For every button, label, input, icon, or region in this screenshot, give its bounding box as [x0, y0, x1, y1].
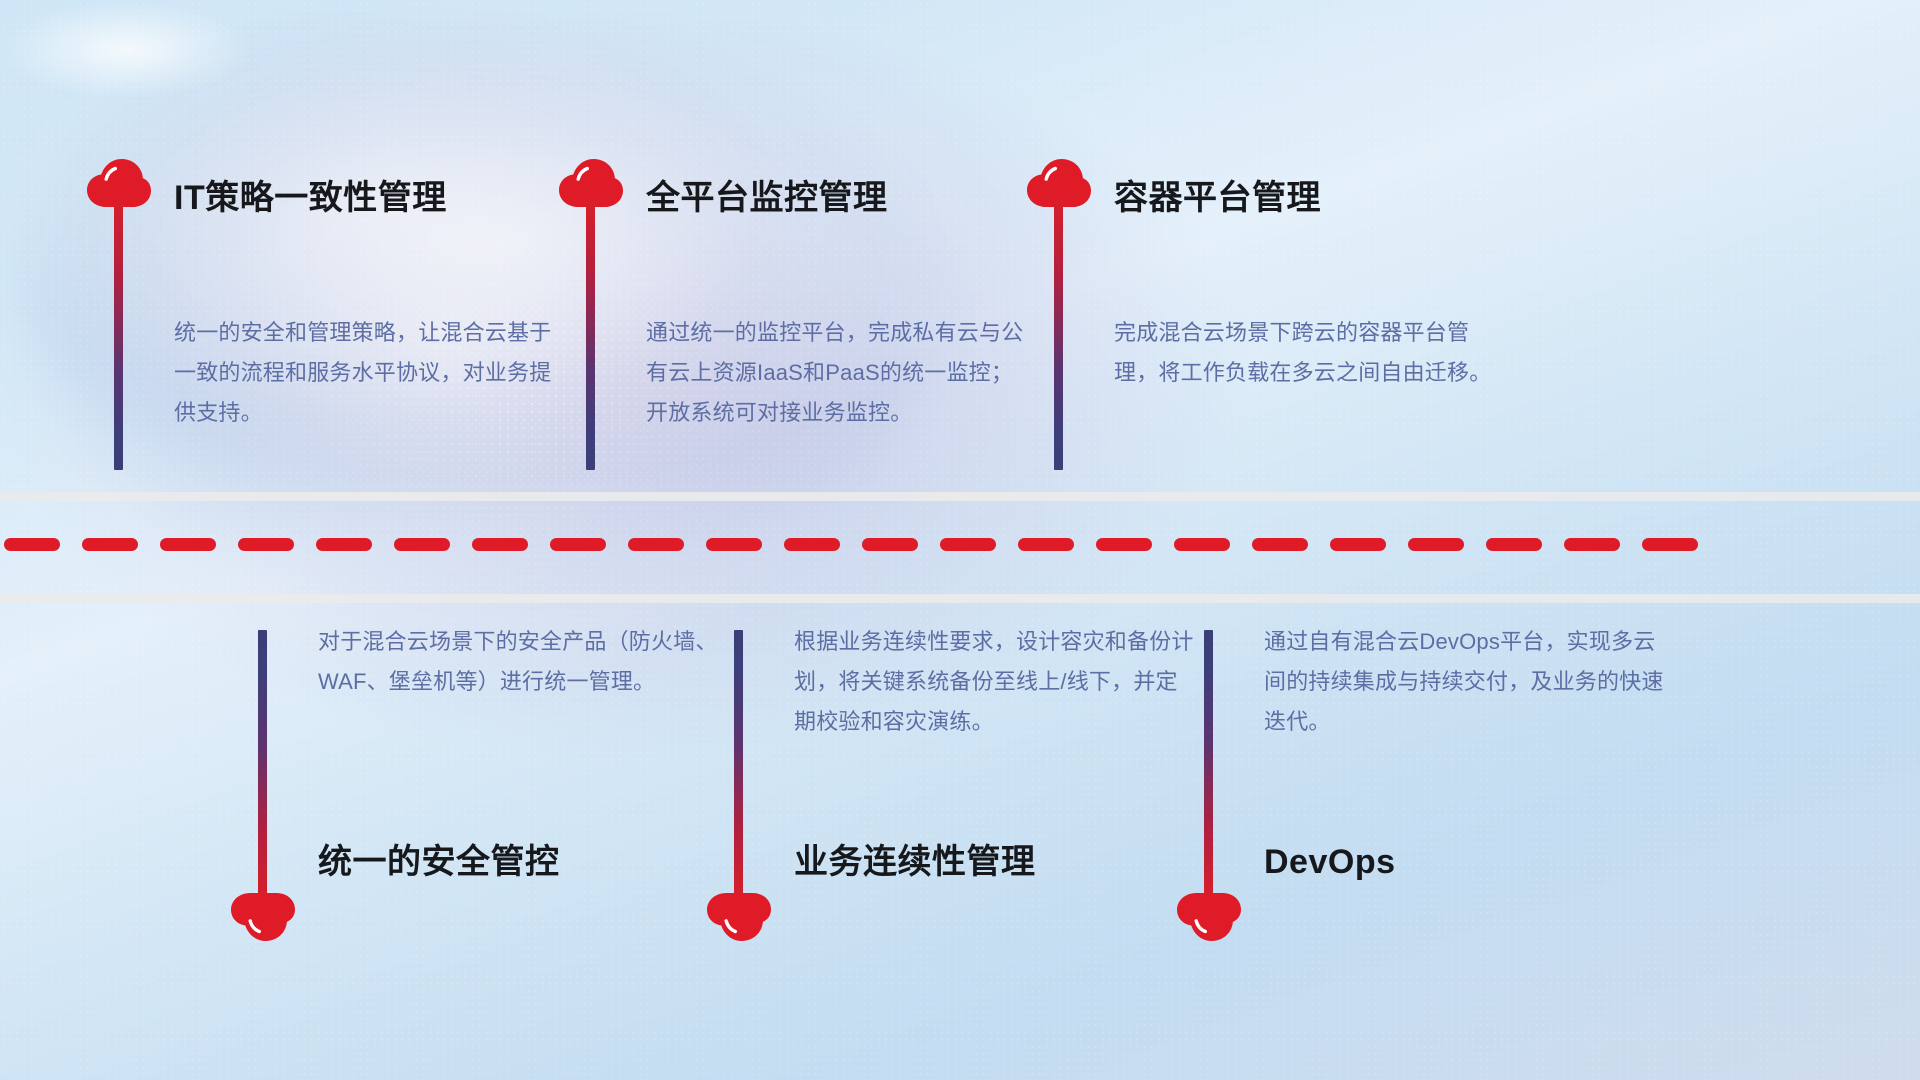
cloud-icon	[558, 158, 624, 208]
divider-dash	[1330, 538, 1386, 551]
divider-dash	[1564, 538, 1620, 551]
card-body: 完成混合云场景下跨云的容器平台管理，将工作负载在多云之间自由迁移。	[1114, 313, 1494, 393]
divider-rule-top	[0, 492, 1920, 501]
connector-line	[1204, 630, 1213, 898]
marker-stem-group	[1026, 158, 1108, 470]
divider-dash	[1174, 538, 1230, 551]
divider-dash	[1252, 538, 1308, 551]
connector-line	[258, 630, 267, 898]
divider-dash	[4, 538, 60, 551]
divider-rule-bottom	[0, 594, 1920, 603]
divider-dash	[862, 538, 918, 551]
card-heading: IT策略一致性管理	[174, 178, 447, 219]
divider-dash	[316, 538, 372, 551]
divider-dash	[82, 538, 138, 551]
divider-dash	[706, 538, 762, 551]
divider-dash	[1408, 538, 1464, 551]
connector-line	[586, 202, 595, 470]
marker-stem-group	[706, 630, 788, 960]
card-body: 统一的安全和管理策略，让混合云基于一致的流程和服务水平协议，对业务提供支持。	[174, 313, 554, 433]
divider-dashed-line	[0, 538, 1920, 551]
connector-line	[1054, 202, 1063, 470]
divider-dash	[238, 538, 294, 551]
connector-line	[114, 202, 123, 470]
divider-dash	[394, 538, 450, 551]
marker-stem-group	[86, 158, 168, 470]
card-heading: 统一的安全管控	[318, 842, 560, 883]
divider-dash	[628, 538, 684, 551]
divider-dash	[550, 538, 606, 551]
connector-line	[734, 630, 743, 898]
card-heading: DevOps	[1264, 842, 1396, 883]
divider-dash	[472, 538, 528, 551]
divider-dash	[160, 538, 216, 551]
divider-dash	[940, 538, 996, 551]
card-body: 通过统一的监控平台，完成私有云与公有云上资源IaaS和PaaS的统一监控；开放系…	[646, 313, 1026, 433]
card-heading: 业务连续性管理	[794, 842, 1036, 883]
card-heading: 全平台监控管理	[646, 178, 888, 219]
divider-dash	[784, 538, 840, 551]
cloud-icon	[230, 892, 296, 942]
cloud-icon	[706, 892, 772, 942]
divider-dash	[1486, 538, 1542, 551]
divider-dash	[1018, 538, 1074, 551]
marker-stem-group	[558, 158, 640, 470]
divider-dash	[1096, 538, 1152, 551]
card-body: 对于混合云场景下的安全产品（防火墙、WAF、堡垒机等）进行统一管理。	[318, 622, 718, 702]
cloud-icon	[86, 158, 152, 208]
card-body: 通过自有混合云DevOps平台，实现多云间的持续集成与持续交付，及业务的快速迭代…	[1264, 622, 1664, 742]
divider-dash	[1642, 538, 1698, 551]
card-body: 根据业务连续性要求，设计容灾和备份计划，将关键系统备份至线上/线下，并定期校验和…	[794, 622, 1194, 742]
marker-stem-group	[1176, 630, 1258, 960]
cloud-icon	[1026, 158, 1092, 208]
marker-stem-group	[230, 630, 312, 960]
cloud-icon	[1176, 892, 1242, 942]
card-heading: 容器平台管理	[1114, 178, 1321, 219]
infographic-canvas: IT策略一致性管理 统一的安全和管理策略，让混合云基于一致的流程和服务水平协议，…	[0, 0, 1920, 1080]
